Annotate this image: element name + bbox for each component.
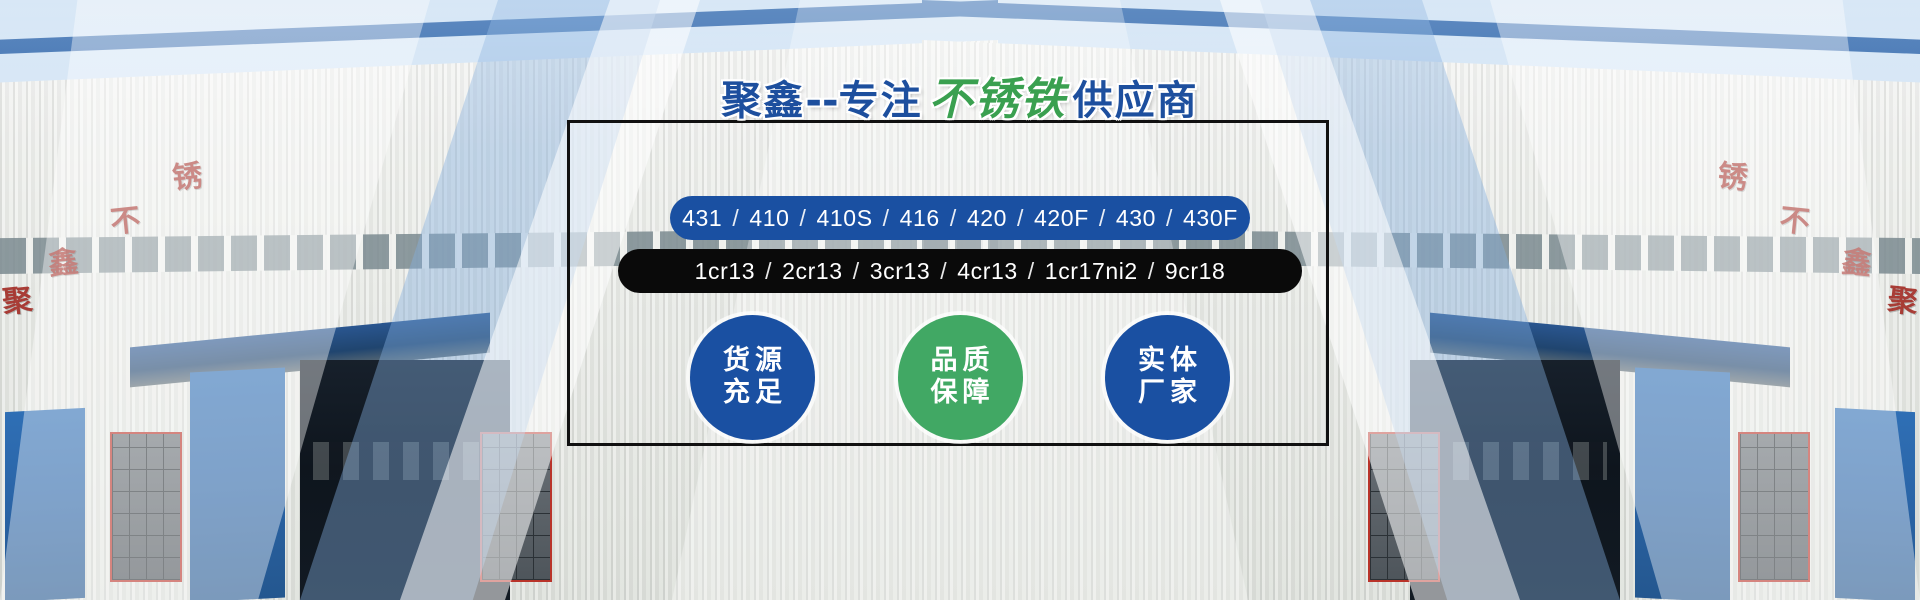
door-right-outer — [1835, 408, 1915, 600]
loading-bay-left — [300, 360, 510, 600]
badge-quality-line1: 品质 — [926, 345, 995, 377]
grade-separator: / — [1139, 258, 1164, 285]
grade-separator: / — [874, 205, 899, 232]
facade-sign-char-5: 锈 — [1716, 151, 1750, 198]
grade-separator: / — [941, 205, 966, 232]
banner-root: 锈 不 鑫 聚 锈 不 鑫 聚 聚鑫--专注不锈铁供应商 431 / 410 /… — [0, 0, 1920, 600]
badge-supply: 货源 充足 — [690, 315, 815, 440]
grade-value: 416 — [899, 205, 941, 232]
facade-sign-char-1: 锈 — [170, 151, 204, 198]
grade-bar-primary: 431 / 410 / 410S / 416 / 420 / 420F / 43… — [670, 196, 1250, 240]
badge-factory-line2: 厂家 — [1133, 377, 1202, 409]
facade-sign-char-8: 聚 — [1886, 275, 1920, 322]
feature-badges: 货源 充足 品质 保障 实体 厂家 — [690, 307, 1230, 447]
badge-quality-line2: 保障 — [926, 377, 995, 409]
loading-bay-right — [1410, 360, 1620, 600]
badge-factory: 实体 厂家 — [1105, 315, 1230, 440]
grade-separator: / — [1019, 258, 1044, 285]
grade-separator: / — [1008, 205, 1033, 232]
grade-value: 410S — [816, 205, 874, 232]
door-left-outer — [5, 408, 85, 600]
grade-separator: / — [1157, 205, 1182, 232]
grid-window-left-center — [480, 432, 552, 582]
grade-separator: / — [844, 258, 869, 285]
grade-separator: / — [756, 258, 781, 285]
facade-sign-char-7: 鑫 — [1840, 237, 1874, 284]
facade-sign-char-2: 不 — [108, 195, 142, 242]
grade-value: 1cr13 — [694, 258, 757, 285]
grade-value: 1cr17ni2 — [1044, 258, 1139, 285]
grade-value: 4cr13 — [956, 258, 1019, 285]
badge-supply-line1: 货源 — [718, 345, 787, 377]
door-left-inner — [190, 368, 285, 600]
door-right-inner — [1635, 368, 1730, 600]
badge-quality: 品质 保障 — [898, 315, 1023, 440]
grade-separator: / — [1090, 205, 1115, 232]
grade-bar-secondary: 1cr13 / 2cr13 / 3cr13 / 4cr13 / 1cr17ni2… — [618, 249, 1302, 293]
grid-window-right-center — [1368, 432, 1440, 582]
badge-supply-line2: 充足 — [718, 377, 787, 409]
grid-window-right — [1738, 432, 1810, 582]
grade-value: 3cr13 — [869, 258, 932, 285]
grade-value: 430F — [1182, 205, 1239, 232]
grade-separator: / — [931, 258, 956, 285]
facade-sign-char-3: 鑫 — [46, 237, 80, 284]
grade-value: 420 — [966, 205, 1008, 232]
grade-separator: / — [791, 205, 816, 232]
grade-value: 420F — [1033, 205, 1090, 232]
grade-value: 9cr18 — [1164, 258, 1227, 285]
badge-factory-line1: 实体 — [1133, 345, 1202, 377]
grade-value: 430 — [1115, 205, 1157, 232]
frame-top-gap — [632, 112, 1264, 134]
grade-value: 410 — [748, 205, 790, 232]
grade-value: 2cr13 — [781, 258, 844, 285]
facade-sign-char-4: 聚 — [0, 275, 34, 322]
grade-separator: / — [723, 205, 748, 232]
grade-value: 431 — [681, 205, 723, 232]
grid-window-left — [110, 432, 182, 582]
facade-sign-char-6: 不 — [1778, 195, 1812, 242]
